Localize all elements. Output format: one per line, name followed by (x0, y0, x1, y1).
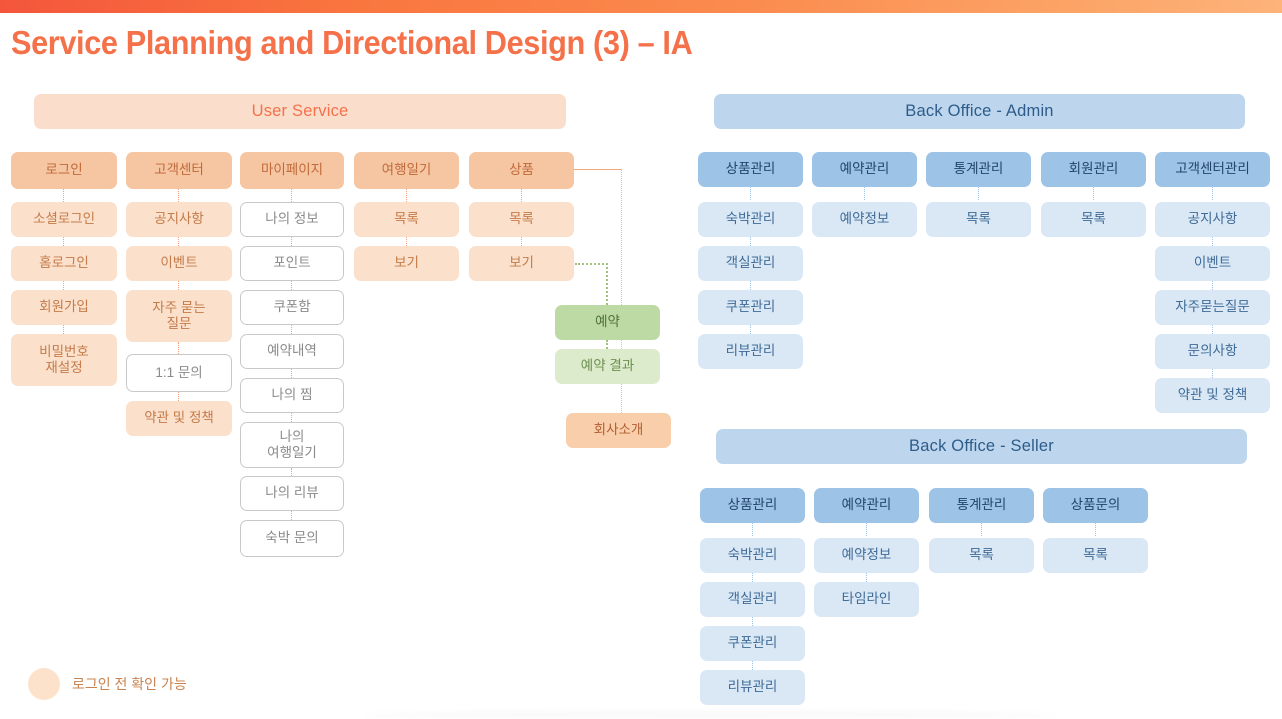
connector-dotted-green (606, 340, 608, 349)
node-reserve-result[interactable]: 예약 결과 (555, 349, 660, 384)
connector-dotted (291, 237, 292, 246)
connector-dotted (291, 189, 292, 202)
connector-dotted (406, 189, 407, 202)
node-seller-room-mgmt[interactable]: 객실관리 (700, 582, 805, 617)
node-travel-diary-view[interactable]: 보기 (354, 246, 459, 281)
connector-dotted (750, 325, 751, 334)
node-admin-room-mgmt[interactable]: 객실관리 (698, 246, 803, 281)
node-admin-lodging-mgmt[interactable]: 숙박관리 (698, 202, 803, 237)
connector-dotted (750, 187, 751, 200)
connector-dotted (178, 189, 179, 202)
node-event[interactable]: 이벤트 (126, 246, 232, 281)
connector-dotted (866, 523, 867, 536)
connector-dotted (178, 342, 179, 354)
node-my-review[interactable]: 나의 리뷰 (240, 476, 344, 511)
connector-dotted (1095, 523, 1096, 536)
top-accent-bar (0, 0, 1282, 13)
node-travel-diary-list[interactable]: 목록 (354, 202, 459, 237)
node-seller-timeline[interactable]: 타임라인 (814, 582, 919, 617)
connector-dotted (1093, 187, 1094, 200)
legend-label: 로그인 전 확인 가능 (72, 674, 187, 694)
node-seller-stats-mgmt-head[interactable]: 통계관리 (929, 488, 1034, 523)
connector-dotted (178, 237, 179, 246)
node-seller-lodging-mgmt[interactable]: 숙박관리 (700, 538, 805, 573)
node-seller-stats-list[interactable]: 목록 (929, 538, 1034, 573)
node-coupon-box[interactable]: 쿠폰함 (240, 290, 344, 325)
connector-dotted (1212, 187, 1213, 200)
node-product-head[interactable]: 상품 (469, 152, 574, 189)
connector-dotted (291, 468, 292, 476)
node-social-login[interactable]: 소셜로그인 (11, 202, 117, 237)
node-customer-center-head[interactable]: 고객센터 (126, 152, 232, 189)
node-admin-customer-center-mgmt-head[interactable]: 고객센터관리 (1155, 152, 1270, 187)
node-product-list[interactable]: 목록 (469, 202, 574, 237)
section-banner-back-office-admin: Back Office - Admin (714, 94, 1245, 129)
connector-dotted (866, 573, 867, 582)
connector-dotted (752, 573, 753, 582)
section-banner-user-service: User Service (34, 94, 566, 129)
node-admin-inquiry[interactable]: 문의사항 (1155, 334, 1270, 369)
connector-dotted (63, 325, 64, 334)
connector-dotted (1212, 281, 1213, 290)
connector-dotted (981, 523, 982, 536)
connector-dotted (291, 281, 292, 290)
node-password-reset[interactable]: 비밀번호 재설정 (11, 334, 117, 386)
node-admin-product-mgmt-head[interactable]: 상품관리 (698, 152, 803, 187)
node-home-login[interactable]: 홈로그인 (11, 246, 117, 281)
connector-dotted (291, 369, 292, 378)
legend-swatch-icon (28, 668, 60, 700)
connector-dotted (63, 237, 64, 246)
node-admin-coupon-mgmt[interactable]: 쿠폰관리 (698, 290, 803, 325)
node-lodging-inquiry[interactable]: 숙박 문의 (240, 520, 344, 557)
connector-dotted (178, 281, 179, 290)
bottom-shadow (360, 712, 1060, 719)
connector-dotted (1212, 237, 1213, 246)
connector-dotted-green (575, 263, 608, 265)
connector-dotted (63, 189, 64, 202)
section-banner-back-office-seller: Back Office - Seller (716, 429, 1247, 464)
node-admin-faq[interactable]: 자주묻는질문 (1155, 290, 1270, 325)
node-seller-coupon-mgmt[interactable]: 쿠폰관리 (700, 626, 805, 661)
node-seller-reservation-mgmt-head[interactable]: 예약관리 (814, 488, 919, 523)
node-admin-notice[interactable]: 공지사항 (1155, 202, 1270, 237)
connector-dotted (978, 187, 979, 200)
node-travel-diary-head[interactable]: 여행일기 (354, 152, 459, 189)
node-my-wishlist[interactable]: 나의 찜 (240, 378, 344, 413)
node-admin-member-list[interactable]: 목록 (1041, 202, 1146, 237)
node-faq[interactable]: 자주 묻는 질문 (126, 290, 232, 342)
connector-dotted (864, 187, 865, 200)
connector-dotted (750, 237, 751, 246)
connector-dotted (291, 413, 292, 422)
node-admin-stats-mgmt-head[interactable]: 통계관리 (926, 152, 1031, 187)
node-admin-reservation-mgmt-head[interactable]: 예약관리 (812, 152, 917, 187)
node-mypage-head[interactable]: 마이페이지 (240, 152, 344, 189)
node-my-info[interactable]: 나의 정보 (240, 202, 344, 237)
connector-dotted (752, 523, 753, 536)
node-admin-member-mgmt-head[interactable]: 회원관리 (1041, 152, 1146, 187)
connector-dotted-green (606, 263, 608, 305)
node-admin-stats-list[interactable]: 목록 (926, 202, 1031, 237)
node-reserve[interactable]: 예약 (555, 305, 660, 340)
node-seller-product-inquiry-list[interactable]: 목록 (1043, 538, 1148, 573)
node-my-travel-diary[interactable]: 나의 여행일기 (240, 422, 344, 468)
node-seller-review-mgmt[interactable]: 리뷰관리 (700, 670, 805, 705)
legend: 로그인 전 확인 가능 (28, 668, 187, 700)
node-one-to-one-inquiry[interactable]: 1:1 문의 (126, 354, 232, 392)
node-product-view[interactable]: 보기 (469, 246, 574, 281)
page-title: Service Planning and Directional Design … (11, 24, 692, 62)
node-terms-policy[interactable]: 약관 및 정책 (126, 401, 232, 436)
connector-dotted (406, 237, 407, 246)
node-signup[interactable]: 회원가입 (11, 290, 117, 325)
connector-dotted (291, 325, 292, 334)
connector-dotted (521, 237, 522, 246)
node-seller-reservation-info[interactable]: 예약정보 (814, 538, 919, 573)
connector-dotted (63, 281, 64, 290)
node-admin-review-mgmt[interactable]: 리뷰관리 (698, 334, 803, 369)
node-admin-event[interactable]: 이벤트 (1155, 246, 1270, 281)
node-company-intro[interactable]: 회사소개 (566, 413, 671, 448)
connector-dotted (291, 511, 292, 520)
node-admin-reservation-info[interactable]: 예약정보 (812, 202, 917, 237)
node-notice[interactable]: 공지사항 (126, 202, 232, 237)
slide-canvas: Service Planning and Directional Design … (0, 0, 1282, 719)
node-point[interactable]: 포인트 (240, 246, 344, 281)
connector-line (574, 169, 622, 170)
connector-dotted (752, 617, 753, 626)
node-login-head[interactable]: 로그인 (11, 152, 117, 189)
connector-dotted (178, 392, 179, 401)
node-seller-product-mgmt-head[interactable]: 상품관리 (700, 488, 805, 523)
connector-dotted (1212, 369, 1213, 378)
node-seller-product-inquiry-head[interactable]: 상품문의 (1043, 488, 1148, 523)
node-reservation-history[interactable]: 예약내역 (240, 334, 344, 369)
connector-dotted (1212, 325, 1213, 334)
node-admin-terms-policy[interactable]: 약관 및 정책 (1155, 378, 1270, 413)
connector-dotted (750, 281, 751, 290)
connector-dotted (521, 189, 522, 202)
connector-dotted (752, 661, 753, 670)
